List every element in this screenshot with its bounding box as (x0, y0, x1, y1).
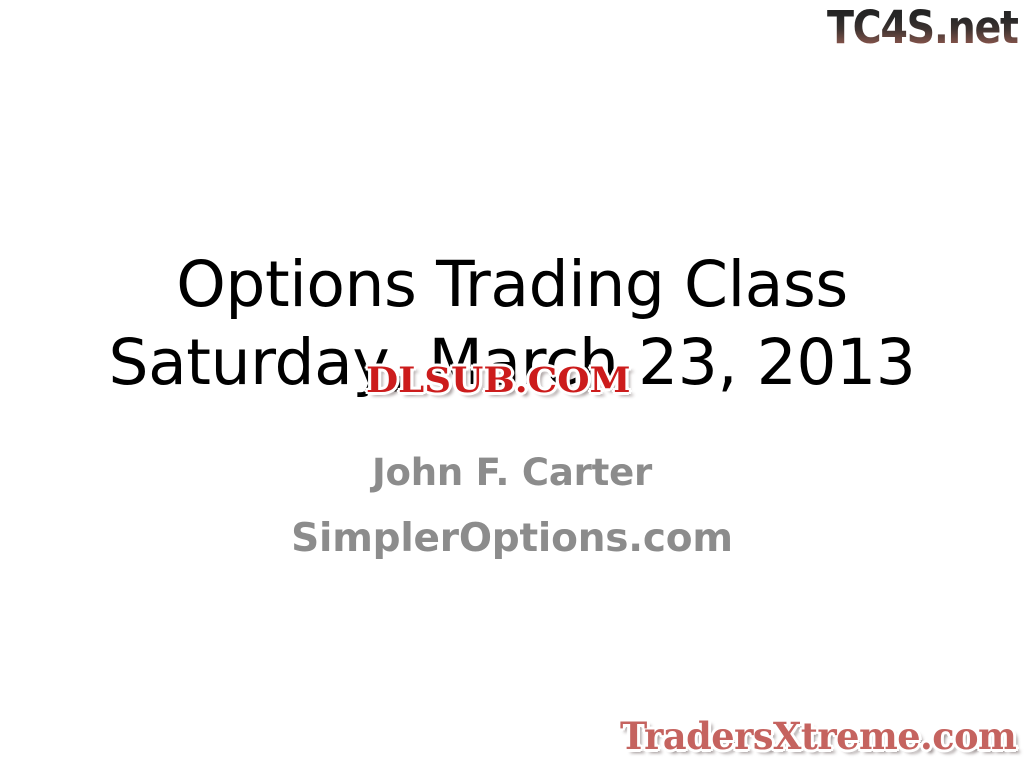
tradersxtreme-watermark: TradersXtreme.com (620, 714, 1016, 758)
slide-subtitle: John F. Carter SimplerOptions.com (0, 442, 1024, 574)
dlsub-watermark: DLSUB.COM (366, 360, 631, 402)
presenter-website: SimplerOptions.com (0, 504, 1024, 574)
title-line-1: Options Trading Class (0, 246, 1024, 324)
presentation-slide: TC4S.net Options Trading Class Saturday,… (0, 0, 1024, 768)
tc4s-logo: TC4S.net (827, 2, 1018, 54)
presenter-name: John F. Carter (0, 442, 1024, 504)
